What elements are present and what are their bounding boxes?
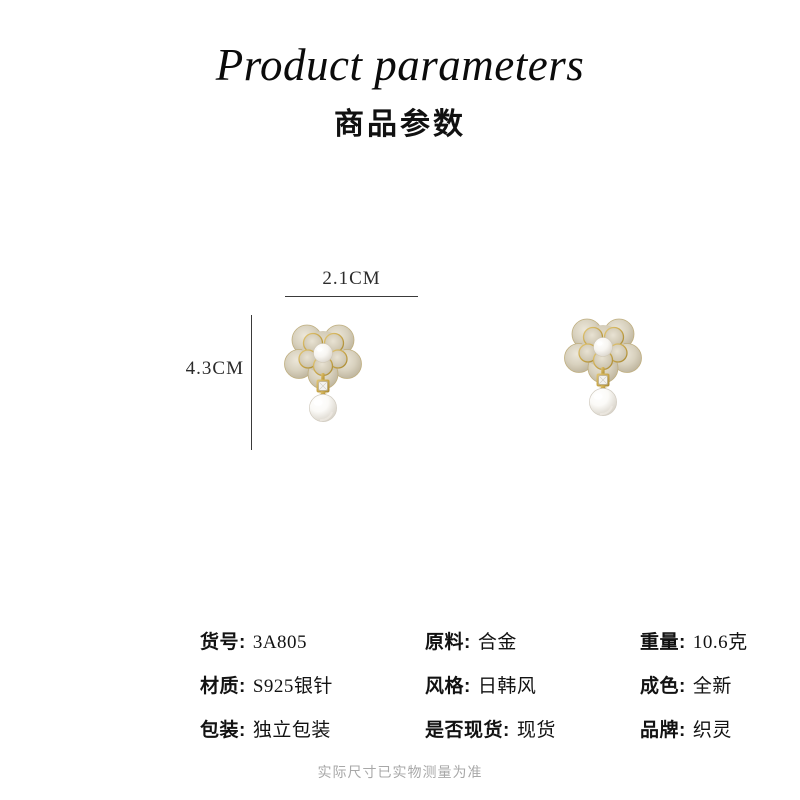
param-value: 日韩风 [478, 676, 537, 697]
param-value: 独立包装 [253, 720, 331, 741]
page-title-cn: 商品参数 [0, 99, 800, 143]
param-item-style: 风格:日韩风 [425, 674, 536, 700]
param-item-material: 原料:合金 [425, 630, 517, 656]
param-label: 风格: [425, 676, 471, 697]
param-item-weight: 重量:10.6克 [640, 630, 748, 656]
page-title-en: Product parameters [0, 42, 800, 89]
param-label: 货号: [200, 632, 246, 653]
param-value: S925银针 [253, 676, 333, 697]
param-value: 全新 [693, 676, 732, 697]
product-parameters-page: Product parameters 商品参数 2.1CM 4.3CM [0, 0, 800, 800]
param-item-article-number: 货号:3A805 [200, 630, 307, 656]
param-value: 3A805 [253, 632, 307, 653]
param-value: 合金 [478, 632, 517, 653]
product-parameters-table: 货号:3A805 原料:合金 重量:10.6克 材质:S925银针 风格:日韩风… [0, 630, 800, 762]
width-measurement-line [285, 296, 418, 297]
table-row: 材质:S925银针 风格:日韩风 成色:全新 [0, 674, 800, 718]
page-header: Product parameters 商品参数 [0, 42, 800, 143]
param-item-packaging: 包装:独立包装 [200, 718, 331, 744]
param-value: 现货 [517, 720, 556, 741]
param-item-brand: 品牌:织灵 [640, 718, 732, 744]
height-measurement-label: 4.3CM [160, 358, 244, 380]
param-item-in-stock: 是否现货:现货 [425, 718, 556, 744]
width-measurement-label: 2.1CM [285, 268, 418, 290]
product-image-earring-right [557, 310, 653, 430]
param-value: 10.6克 [693, 632, 748, 653]
param-value: 织灵 [693, 720, 732, 741]
table-row: 货号:3A805 原料:合金 重量:10.6克 [0, 630, 800, 674]
param-label: 成色: [640, 676, 686, 697]
param-item-condition: 成色:全新 [640, 674, 732, 700]
param-item-texture: 材质:S925银针 [200, 674, 333, 700]
param-label: 材质: [200, 676, 246, 697]
param-label: 包装: [200, 720, 246, 741]
product-image-earring-left [277, 316, 373, 436]
param-label: 是否现货: [425, 720, 510, 741]
param-label: 品牌: [640, 720, 686, 741]
param-label: 重量: [640, 632, 686, 653]
measurement-disclaimer: 实际尺寸已实物测量为准 [0, 762, 800, 782]
table-row: 包装:独立包装 是否现货:现货 品牌:织灵 [0, 718, 800, 762]
param-label: 原料: [425, 632, 471, 653]
height-measurement-line [251, 315, 252, 450]
